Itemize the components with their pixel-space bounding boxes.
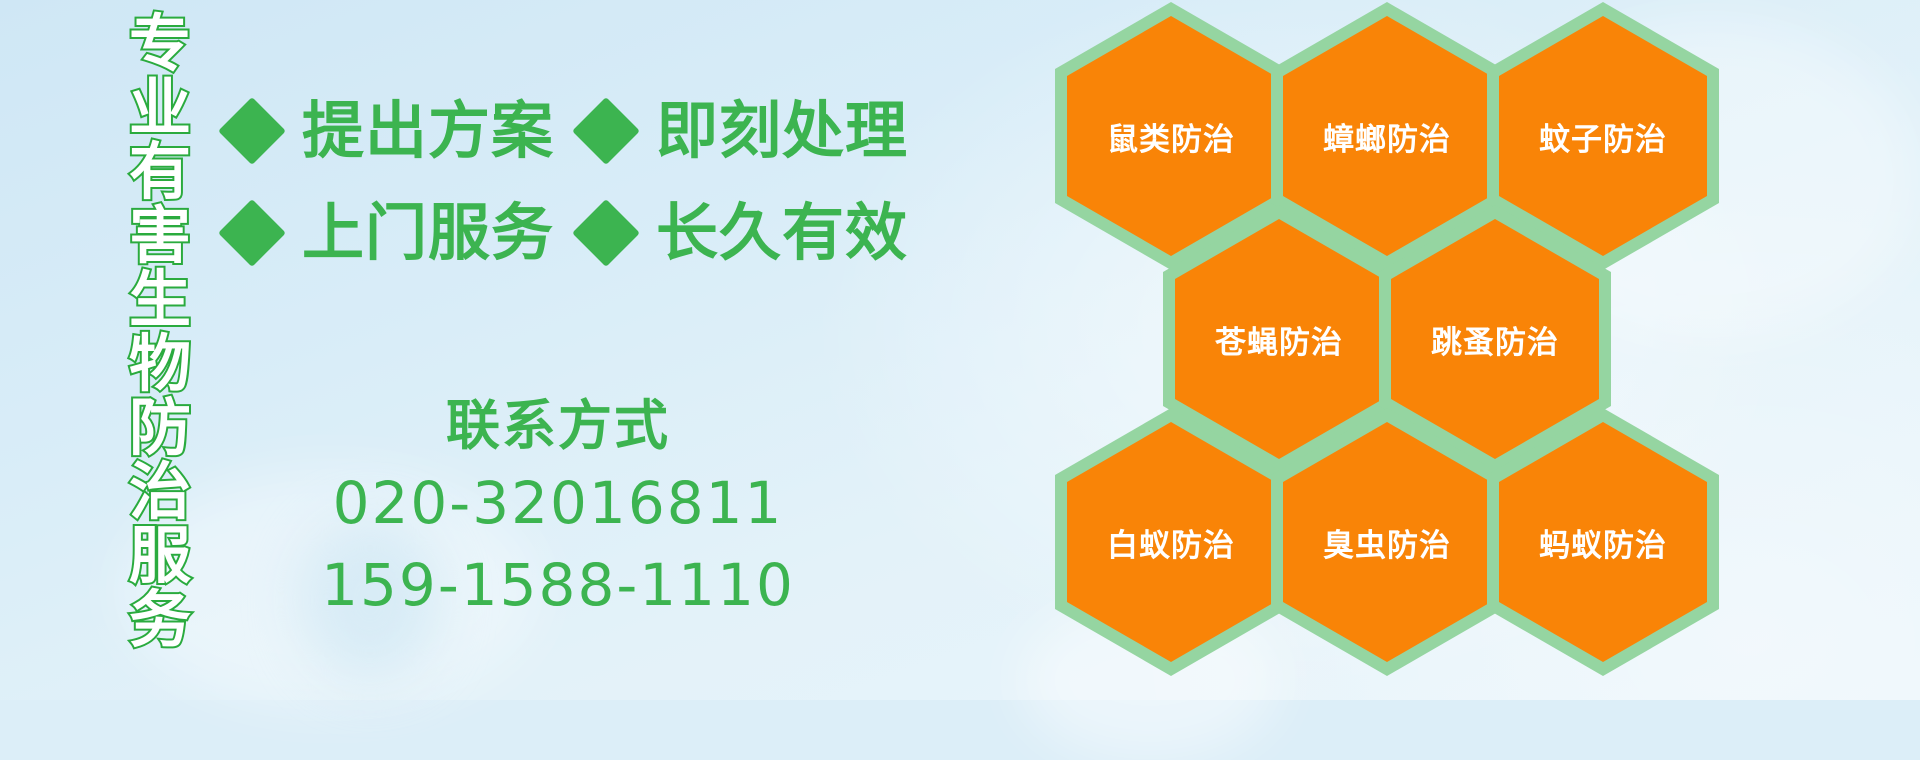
feature-label: 提出方案: [302, 100, 554, 162]
service-hex-bedbug[interactable]: 臭虫防治: [1271, 408, 1503, 676]
service-label: 鼠类防治: [1107, 114, 1235, 159]
service-label: 蚊子防治: [1539, 114, 1667, 159]
service-label: 蚂蚁防治: [1539, 520, 1667, 565]
promo-banner: 专 业 有 害 生 物 防 治 服 务 提出方案 即刻处理 上门服务 长久有效 …: [0, 0, 1920, 700]
contact-label: 联系方式: [228, 390, 888, 462]
service-honeycomb: 鼠类防治 蟑螂防治 蚊子防治 苍蝇防治 跳蚤防治: [1055, 0, 1815, 708]
headline-char: 专: [129, 12, 191, 76]
service-label: 白蚁防治: [1107, 520, 1235, 565]
feature-row: 提出方案 即刻处理: [228, 80, 868, 182]
headline-char: 业: [129, 76, 191, 140]
diamond-icon: [218, 199, 286, 267]
vertical-headline: 专 业 有 害 生 物 防 治 服 务: [112, 12, 208, 680]
diamond-icon: [572, 97, 640, 165]
contact-phone-landline[interactable]: 020-32016811: [228, 462, 888, 544]
feature-label: 长久有效: [656, 202, 908, 264]
contact-phone-mobile[interactable]: 159-1588-1110: [228, 544, 888, 626]
diamond-icon: [572, 199, 640, 267]
headline-char: 生: [129, 268, 191, 332]
headline-char: 害: [129, 204, 191, 268]
headline-char: 防: [129, 396, 191, 460]
feature-label: 上门服务: [302, 202, 554, 264]
headline-char: 服: [129, 524, 191, 588]
service-label: 蟑螂防治: [1323, 114, 1451, 159]
contact-block: 联系方式 020-32016811 159-1588-1110: [228, 390, 888, 626]
service-hex-termite[interactable]: 白蚁防治: [1055, 408, 1287, 676]
headline-char: 治: [129, 460, 191, 524]
feature-label: 即刻处理: [656, 100, 908, 162]
diamond-icon: [218, 97, 286, 165]
service-label: 苍蝇防治: [1215, 317, 1343, 362]
headline-char: 有: [129, 140, 191, 204]
feature-list: 提出方案 即刻处理 上门服务 长久有效: [228, 80, 868, 284]
feature-row: 上门服务 长久有效: [228, 182, 868, 284]
service-hex-ant[interactable]: 蚂蚁防治: [1487, 408, 1719, 676]
headline-char: 务: [129, 588, 191, 652]
service-label: 臭虫防治: [1323, 520, 1451, 565]
headline-char: 物: [129, 332, 191, 396]
service-label: 跳蚤防治: [1431, 317, 1559, 362]
